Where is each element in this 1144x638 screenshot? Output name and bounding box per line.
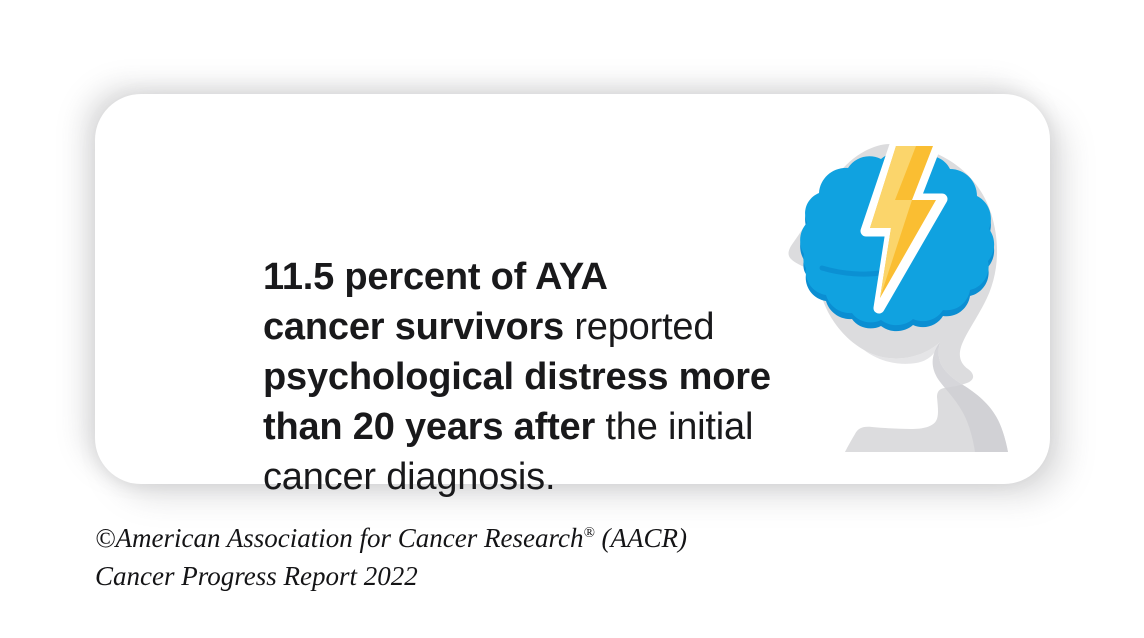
copyright-caption: ©American Association for Cancer Researc… <box>95 519 995 595</box>
statement-line-4-normal: the initial <box>595 406 753 448</box>
statement-line-2-bold: cancer survivors <box>263 306 564 348</box>
caption-line-2: Cancer Progress Report 2022 <box>95 557 995 595</box>
registered-trademark-icon: ® <box>583 525 594 541</box>
statement-line-1-bold: 11.5 percent of AYA <box>263 256 608 298</box>
statement-line-3-bold: psychological distress more <box>263 356 771 398</box>
caption-abbrev-text: (AACR) <box>595 523 687 553</box>
caption-org-text: ©American Association for Cancer Researc… <box>95 523 583 553</box>
infographic-canvas: 11.5 percent of AYA cancer survivors rep… <box>0 0 1144 638</box>
statement-line-4-bold: than 20 years after <box>263 406 595 448</box>
statement-line-5-normal: cancer diagnosis. <box>263 456 555 498</box>
statement-line-3: psychological distress more <box>263 352 823 402</box>
statement-line-2: cancer survivors reported <box>263 302 823 352</box>
statement-line-4: than 20 years after the initial <box>263 402 823 452</box>
head-brain-lightning-illustration <box>762 128 1030 452</box>
statement-line-1: 11.5 percent of AYA <box>263 252 823 302</box>
statement-text: 11.5 percent of AYA cancer survivors rep… <box>263 252 823 502</box>
caption-line-1: ©American Association for Cancer Researc… <box>95 519 995 557</box>
statement-line-5: cancer diagnosis. <box>263 452 823 502</box>
statement-line-2-normal: reported <box>564 306 714 348</box>
